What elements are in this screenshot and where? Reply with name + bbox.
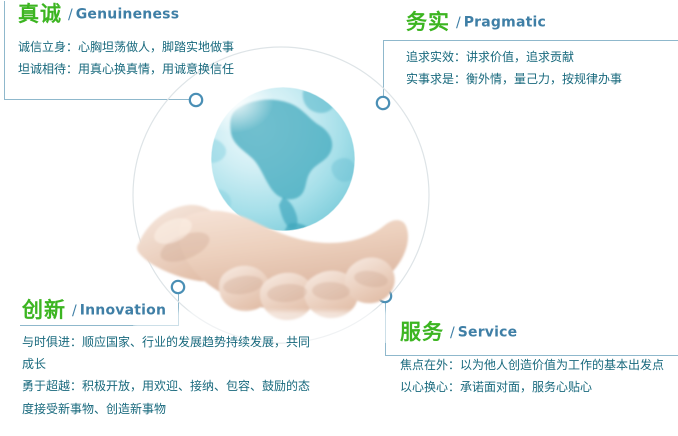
pragmatic-title: 务实/Pragmatic: [406, 12, 671, 33]
innovation-line-2: 勇于超越：积极开放，用欢迎、接纳、包容、鼓励的态度接受新事物、创造新事物: [22, 375, 312, 419]
service-title-separator: /: [450, 325, 455, 341]
core-values-infographic: 真诚/Genuineness 诚信立身：心胸坦荡做人，脚踏实地做事 坦诚相待：用…: [0, 0, 678, 436]
innovation-title-cn: 创新: [22, 298, 66, 322]
innovation-title-separator: /: [72, 303, 77, 319]
service-title: 服务/Service: [400, 322, 668, 343]
pragmatic-title-cn: 务实: [406, 10, 450, 34]
innovation-title: 创新/Innovation: [22, 300, 312, 321]
innovation-line-1: 与时俱进：顺应国家、行业的发展趋势持续发展，共同成长: [22, 331, 312, 375]
service-title-en: Service: [458, 325, 518, 341]
genuineness-title: 真诚/Genuineness: [18, 4, 348, 25]
service-body: 焦点在外：以为他人创造价值为工作的基本出发点 以心换心：承诺面对面，服务心贴心: [400, 354, 668, 398]
genuineness-line-1: 诚信立身：心胸坦荡做人，脚踏实地做事: [18, 36, 348, 58]
genuineness-body: 诚信立身：心胸坦荡做人，脚踏实地做事 坦诚相待：用真心换真情，用诚意换信任: [18, 36, 348, 80]
value-block-service: 服务/Service 焦点在外：以为他人创造价值为工作的基本出发点 以心换心：承…: [400, 322, 668, 398]
innovation-body: 与时俱进：顺应国家、行业的发展趋势持续发展，共同成长 勇于超越：积极开放，用欢迎…: [22, 331, 312, 420]
pragmatic-title-en: Pragmatic: [464, 15, 546, 31]
pragmatic-title-separator: /: [456, 15, 461, 31]
value-block-innovation: 创新/Innovation 与时俱进：顺应国家、行业的发展趋势持续发展，共同成长…: [22, 300, 312, 420]
service-title-cn: 服务: [400, 320, 444, 344]
value-block-pragmatic: 务实/Pragmatic 追求实效：讲求价值，追求贡献 实事求是：衡外情，量己力…: [406, 12, 671, 90]
service-line-2: 以心换心：承诺面对面，服务心贴心: [400, 376, 668, 398]
innovation-title-en: Innovation: [80, 303, 166, 319]
service-line-1: 焦点在外：以为他人创造价值为工作的基本出发点: [400, 354, 668, 376]
pragmatic-line-1: 追求实效：讲求价值，追求贡献: [406, 46, 671, 68]
pragmatic-line-2: 实事求是：衡外情，量己力，按规律办事: [406, 68, 671, 90]
hand-holding-globe-illustration: [133, 47, 429, 343]
genuineness-line-2: 坦诚相待：用真心换真情，用诚意换信任: [18, 58, 348, 80]
genuineness-title-en: Genuineness: [76, 7, 180, 23]
genuineness-title-separator: /: [68, 7, 73, 23]
genuineness-title-cn: 真诚: [18, 2, 62, 26]
value-block-genuineness: 真诚/Genuineness 诚信立身：心胸坦荡做人，脚踏实地做事 坦诚相待：用…: [18, 4, 348, 80]
pragmatic-body: 追求实效：讲求价值，追求贡献 实事求是：衡外情，量己力，按规律办事: [406, 46, 671, 90]
